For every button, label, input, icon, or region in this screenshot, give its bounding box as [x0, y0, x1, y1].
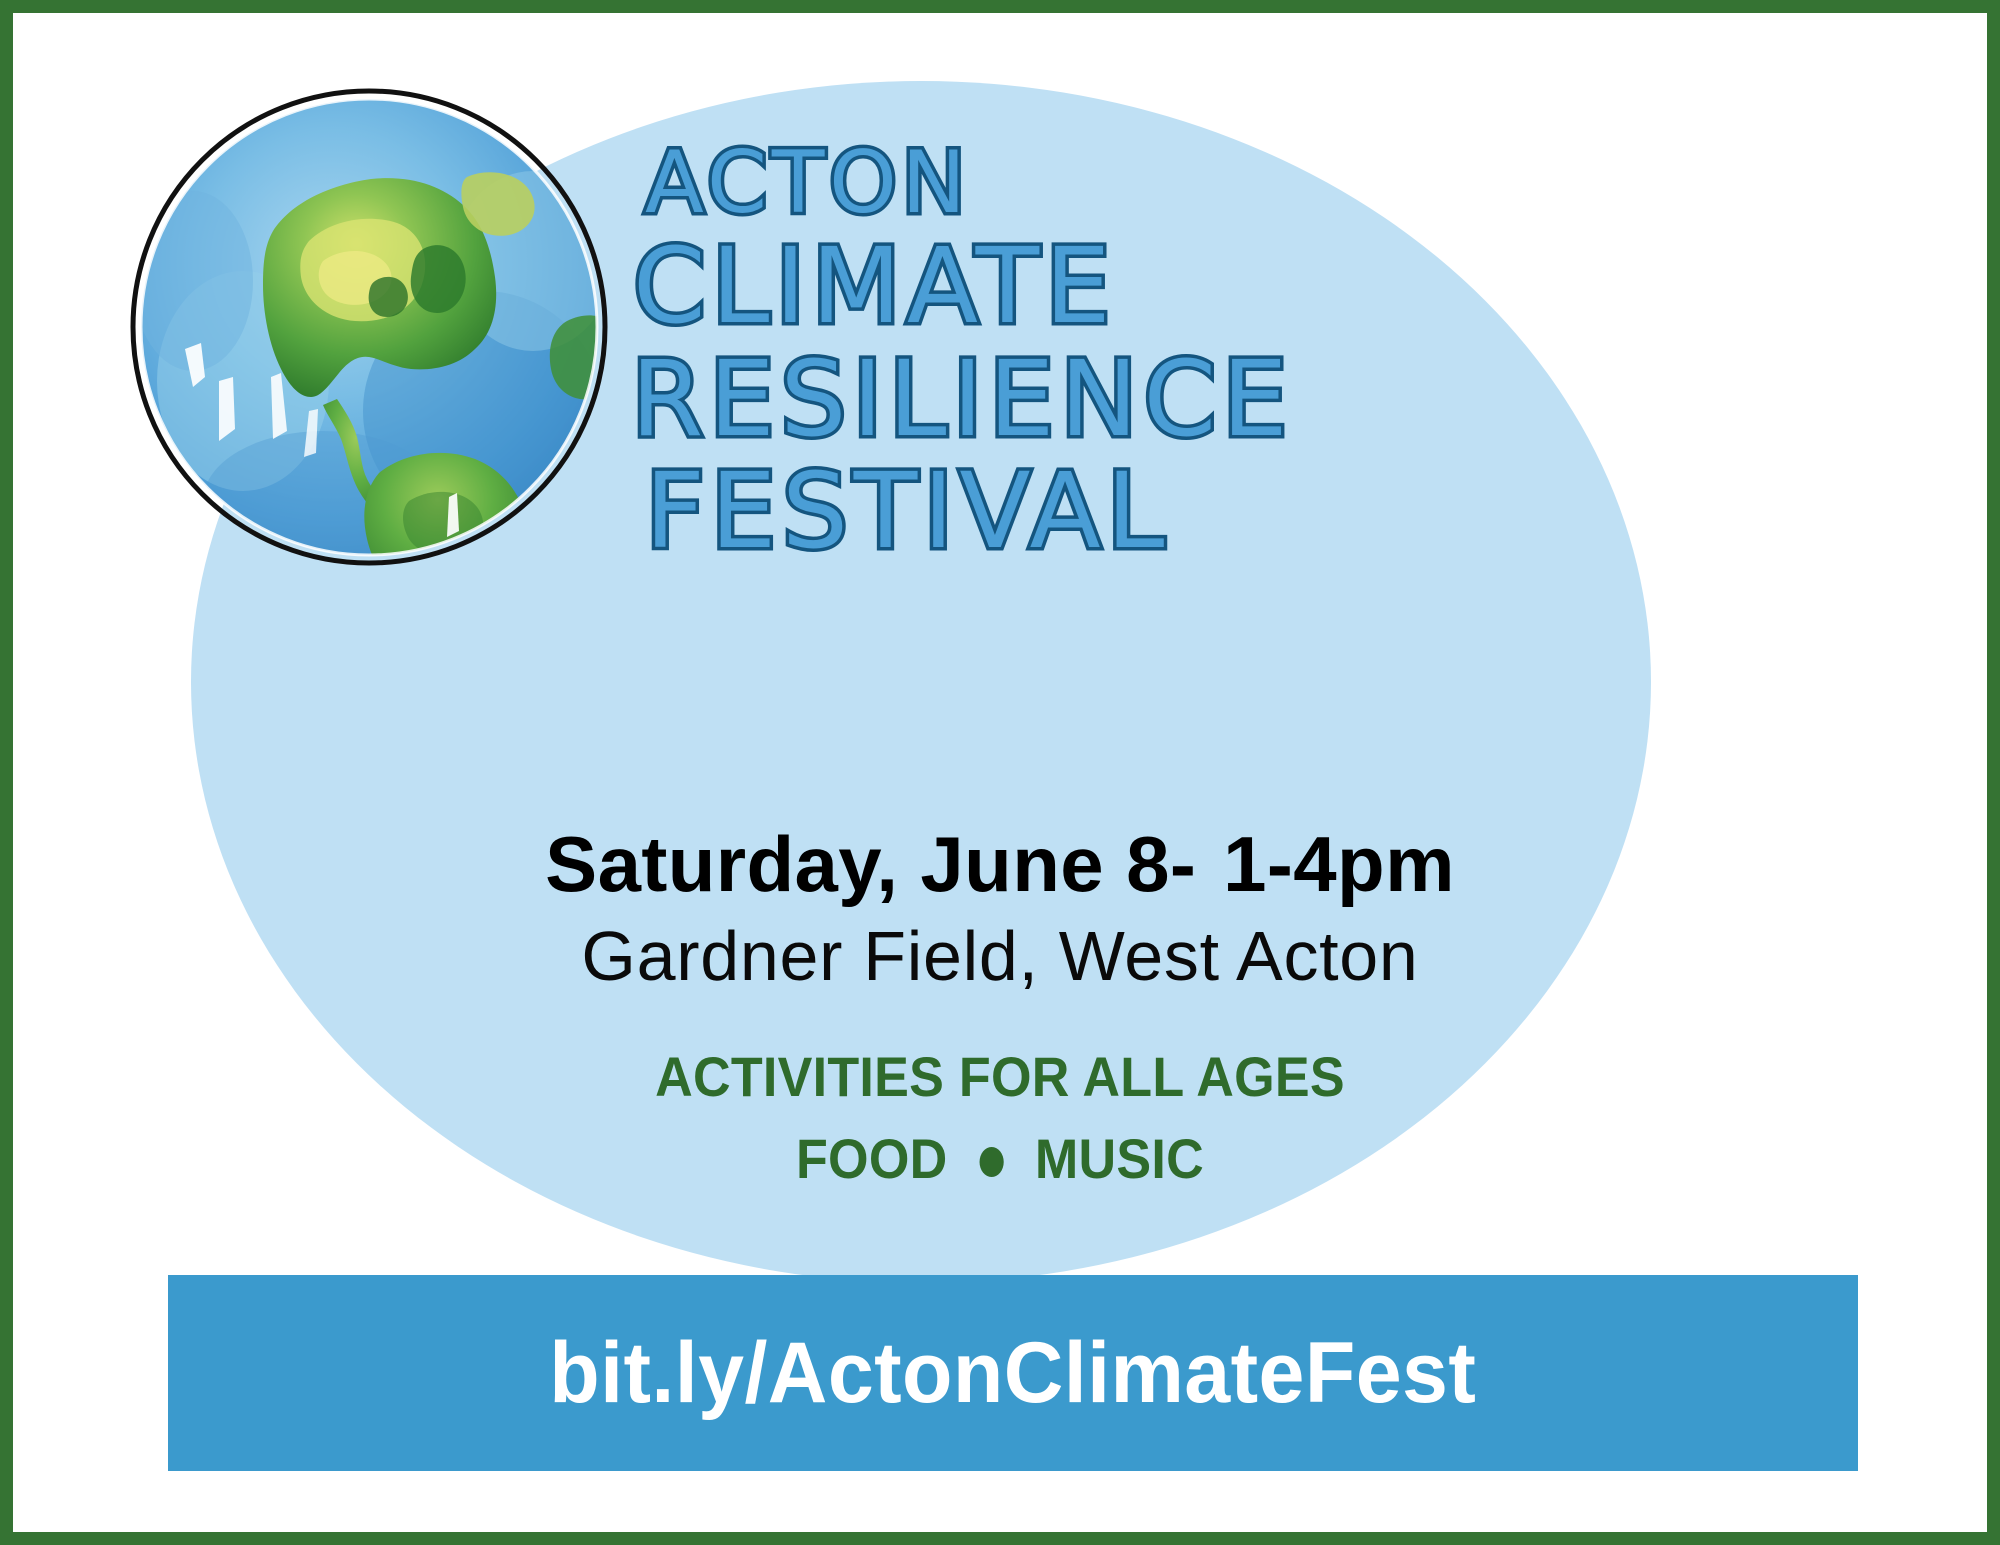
highlight-activities: ACTIVITIES FOR ALL AGES — [82, 1044, 1918, 1109]
highlight-food: FOOD — [796, 1127, 947, 1190]
earth-globe-illustration — [123, 81, 615, 573]
event-venue: Gardner Field, West Acton — [13, 916, 1987, 996]
highlight-music: MUSIC — [1035, 1127, 1204, 1190]
event-url-link[interactable]: bit.ly/ActonClimateFest — [550, 1324, 1477, 1423]
date-time-separator: - — [1170, 820, 1223, 908]
title-line-resilience: RESILIENCE — [631, 345, 1433, 453]
highlight-food-music: FOODMUSIC — [82, 1126, 1918, 1191]
poster-root: ACTON CLIMATE RESILIENCE FESTIVAL Saturd… — [0, 0, 2000, 1545]
festival-title: ACTON CLIMATE RESILIENCE FESTIVAL — [633, 139, 1433, 565]
event-date: Saturday, June 8 — [545, 820, 1170, 908]
title-line-acton: ACTON — [645, 139, 1433, 228]
bullet-separator-icon — [979, 1147, 1003, 1177]
title-line-festival: FESTIVAL — [645, 457, 1433, 565]
event-time: 1-4pm — [1223, 820, 1455, 908]
title-line-climate: CLIMATE — [633, 232, 1433, 340]
url-banner[interactable]: bit.ly/ActonClimateFest — [168, 1275, 1858, 1471]
event-date-time: Saturday, June 8-1-4pm — [13, 819, 1987, 910]
